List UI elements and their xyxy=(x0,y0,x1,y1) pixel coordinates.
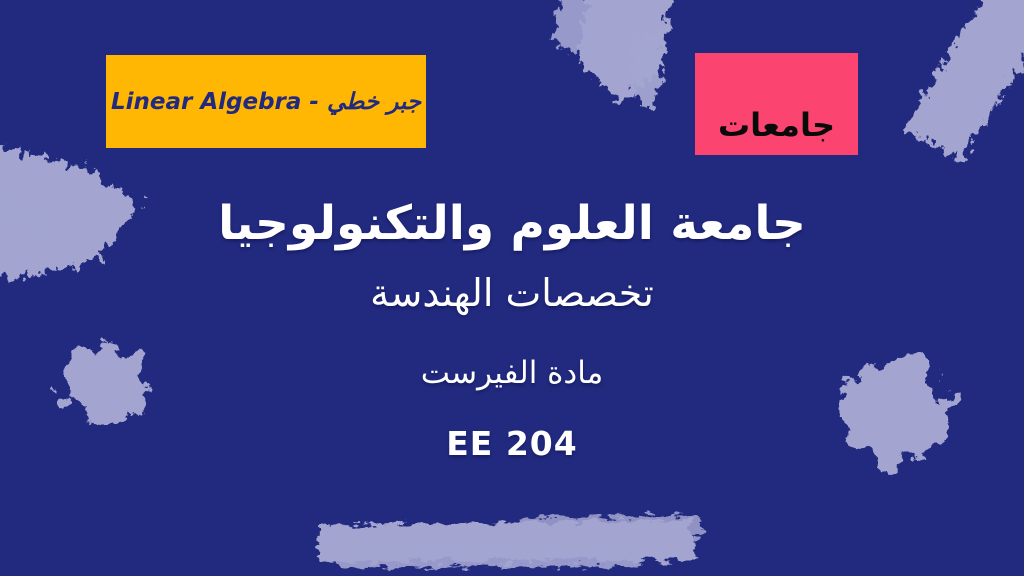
subject-badge-label: جبر خطي - Linear Algebra xyxy=(111,89,421,115)
university-name: جامعة العلوم والتكنولوجيا xyxy=(218,196,806,251)
category-badge: جامعات xyxy=(695,53,858,155)
course-code: EE 204 xyxy=(446,424,577,464)
course-name: مادة الفيرست xyxy=(421,355,604,392)
category-badge-label: جامعات xyxy=(718,109,835,141)
slide-content: جامعة العلوم والتكنولوجيا تخصصات الهندسة… xyxy=(0,196,1024,464)
brush-stroke-top-center-icon xyxy=(552,0,672,108)
brush-stroke-top-right-icon xyxy=(905,0,1024,160)
department-name: تخصصات الهندسة xyxy=(370,271,654,317)
presentation-slide: جبر خطي - Linear Algebra جامعات جامعة ال… xyxy=(0,0,1024,576)
brush-stroke-bottom-icon xyxy=(318,515,702,568)
subject-badge: جبر خطي - Linear Algebra xyxy=(106,55,426,148)
